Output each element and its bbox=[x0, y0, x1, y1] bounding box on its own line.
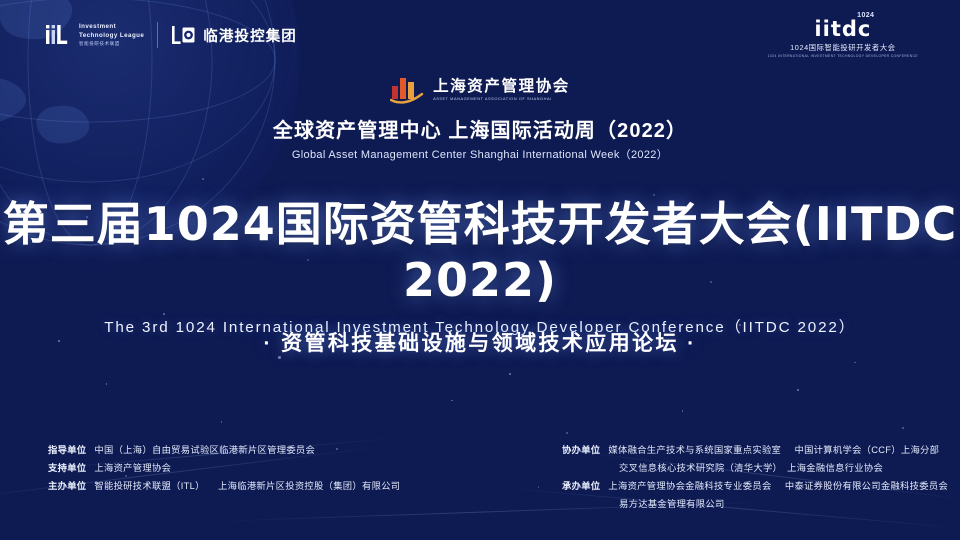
footer-row-undertaker-line2: 易方达基金管理有限公司 bbox=[562, 498, 948, 511]
forum-subtitle: · 资管科技基础设施与领域技术应用论坛 · bbox=[0, 330, 960, 358]
itl-en-line2: Technology League bbox=[79, 32, 144, 39]
footer-label-support: 支持单位 bbox=[48, 462, 86, 475]
footer-row-support: 支持单位 上海资产管理协会 bbox=[48, 462, 400, 475]
iitdc-superscript: 1024 bbox=[857, 12, 874, 19]
lingang-cn-name: 临港投控集团 bbox=[203, 25, 297, 46]
banner-header: Investment Technology League 智能投研技术联盟 临港… bbox=[0, 0, 960, 70]
footer-organizers-left: 指导单位 中国（上海）自由贸易试验区临港新片区管理委员会 支持单位 上海资产管理… bbox=[48, 444, 400, 498]
itl-logo: Investment Technology League 智能投研技术联盟 bbox=[46, 23, 144, 47]
itl-logo-text: Investment Technology League 智能投研技术联盟 bbox=[79, 23, 144, 47]
logo-divider bbox=[157, 22, 158, 48]
footer-value-host-1: 智能投研技术联盟（ITL） bbox=[94, 480, 204, 493]
bar-chart-emblem-icon bbox=[390, 74, 424, 104]
footer-value-undertaker-2: 中泰证券股份有限公司金融科技委员会 bbox=[785, 480, 948, 493]
page-title: 第三届1024国际资管科技开发者大会(IITDC 2022) bbox=[0, 196, 960, 308]
banner-footer: 指导单位 中国（上海）自由贸易试验区临港新片区管理委员会 支持单位 上海资产管理… bbox=[0, 444, 960, 514]
footer-value-guidance: 中国（上海）自由贸易试验区临港新片区管理委员会 bbox=[94, 444, 315, 457]
iitdc-wordmark-wrap: iitdc 1024 bbox=[814, 18, 871, 41]
footer-undertaker-gap bbox=[772, 480, 785, 493]
iitdc-cn-name: 1024国际智能投研开发者大会 bbox=[768, 43, 918, 53]
footer-coorganizer-gap bbox=[781, 444, 794, 457]
footer-label-guidance: 指导单位 bbox=[48, 444, 86, 457]
association-cn-name: 上海资产管理协会 bbox=[433, 78, 570, 95]
footer-organizers-right: 协办单位 媒体融合生产技术与系统国家重点实验室 中国计算机学会（CCF）上海分部… bbox=[562, 444, 948, 516]
footer-value-undertaker-1: 上海资产管理协会金融科技专业委员会 bbox=[608, 480, 771, 493]
conference-banner: Investment Technology League 智能投研技术联盟 临港… bbox=[0, 0, 960, 540]
sponsor-logos-left: Investment Technology League 智能投研技术联盟 临港… bbox=[46, 22, 297, 48]
itl-logo-mark-icon bbox=[46, 25, 72, 45]
footer-value-host-2: 上海临港新片区投资控股（集团）有限公司 bbox=[218, 480, 400, 493]
footer-value-coorganizer-2: 中国计算机学会（CCF）上海分部 bbox=[794, 444, 939, 457]
association-text: 上海资产管理协会 ASSET MANAGEMENT ASSOCIATION OF… bbox=[433, 78, 570, 101]
footer-row-coorganizer-line2: 交叉信息核心技术研究院（清华大学） 上海金融信息行业协会 bbox=[562, 462, 948, 475]
event-week-heading: 全球资产管理中心 上海国际活动周（2022） Global Asset Mana… bbox=[0, 118, 960, 162]
itl-en-line1: Investment bbox=[79, 23, 144, 30]
association-emblem: 上海资产管理协会 ASSET MANAGEMENT ASSOCIATION OF… bbox=[0, 74, 960, 104]
main-title-block: 第三届1024国际资管科技开发者大会(IITDC 2022) The 3rd 1… bbox=[0, 196, 960, 339]
footer-row-host: 主办单位 智能投研技术联盟（ITL） 上海临港新片区投资控股（集团）有限公司 bbox=[48, 480, 400, 493]
lingang-logo-mark-icon bbox=[171, 25, 195, 45]
week-en-title: Global Asset Management Center Shanghai … bbox=[0, 148, 960, 162]
iitdc-event-logo: iitdc 1024 1024国际智能投研开发者大会 1024 INTERNAT… bbox=[768, 18, 918, 58]
footer-label-coorganizer: 协办单位 bbox=[562, 444, 600, 457]
iitdc-wordmark: iitdc bbox=[814, 17, 871, 41]
week-cn-title: 全球资产管理中心 上海国际活动周（2022） bbox=[0, 118, 960, 144]
lingang-logo: 临港投控集团 bbox=[171, 25, 297, 46]
footer-row-undertaker: 承办单位 上海资产管理协会金融科技专业委员会 中泰证券股份有限公司金融科技委员会 bbox=[562, 480, 948, 493]
forum-subtitle-block: · 资管科技基础设施与领域技术应用论坛 · bbox=[0, 330, 960, 358]
footer-value-undertaker-line2: 易方达基金管理有限公司 bbox=[619, 498, 725, 511]
iitdc-en-name: 1024 INTERNATIONAL INVESTMENT TECHNOLOGY… bbox=[768, 54, 918, 58]
footer-row-coorganizer: 协办单位 媒体融合生产技术与系统国家重点实验室 中国计算机学会（CCF）上海分部 bbox=[562, 444, 948, 457]
footer-value-coorganizer-line2: 交叉信息核心技术研究院（清华大学） 上海金融信息行业协会 bbox=[619, 462, 883, 475]
footer-label-host: 主办单位 bbox=[48, 480, 86, 493]
footer-value-support: 上海资产管理协会 bbox=[94, 462, 171, 475]
footer-value-coorganizer-1: 媒体融合生产技术与系统国家重点实验室 bbox=[608, 444, 781, 457]
itl-cn-name: 智能投研技术联盟 bbox=[79, 41, 144, 47]
footer-row-guidance: 指导单位 中国（上海）自由贸易试验区临港新片区管理委员会 bbox=[48, 444, 400, 457]
association-en-name: ASSET MANAGEMENT ASSOCIATION OF SHANGHAI bbox=[433, 96, 552, 101]
footer-host-gap bbox=[205, 480, 218, 493]
footer-label-undertaker: 承办单位 bbox=[562, 480, 600, 493]
